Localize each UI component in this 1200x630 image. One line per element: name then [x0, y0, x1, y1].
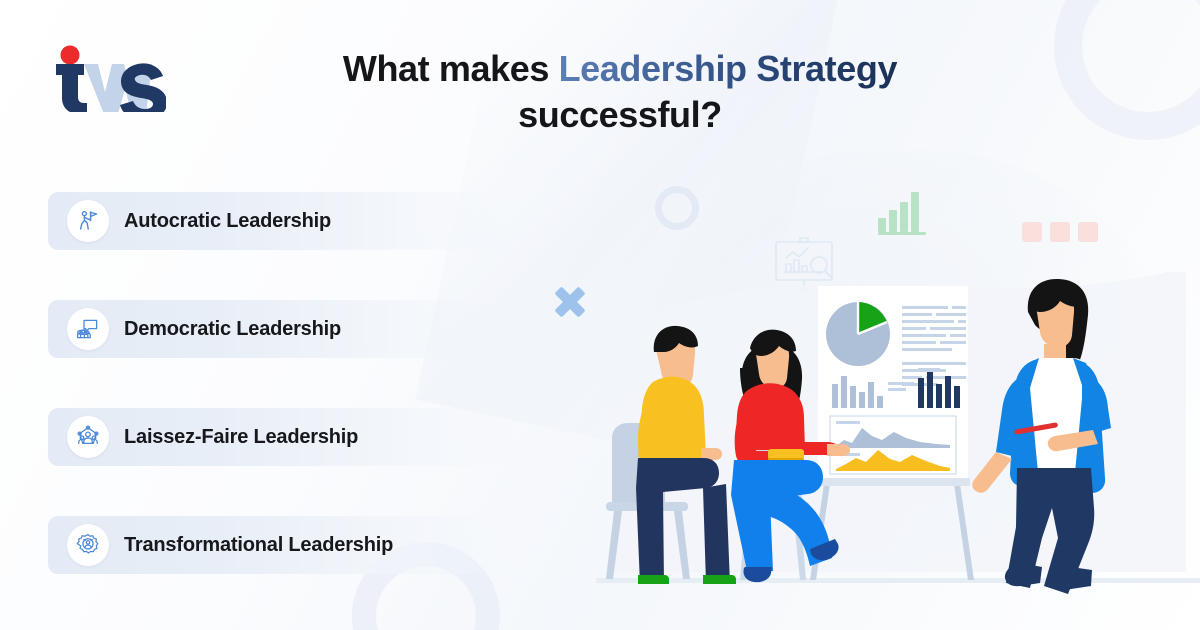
list-item-label: Autocratic Leadership: [124, 210, 331, 233]
green-bar-chart-icon: [878, 190, 926, 232]
page-title: What makes Leadership Strategy successfu…: [250, 46, 990, 138]
title-part-one: What makes: [343, 48, 559, 89]
cross-mark-icon: [553, 285, 587, 319]
title-part-two: successful?: [518, 94, 722, 135]
gear-transformation-icon: [67, 524, 109, 566]
list-item-label: Democratic Leadership: [124, 318, 341, 341]
list-item[interactable]: Laissez-Faire Leadership: [48, 408, 518, 466]
list-item-label: Laissez-Faire Leadership: [124, 426, 358, 449]
flipchart-pie-chart: [826, 302, 890, 366]
pink-squares-icon: [1022, 222, 1098, 242]
team-network-icon: [67, 416, 109, 458]
list-item[interactable]: Autocratic Leadership: [48, 192, 518, 250]
leadership-style-list: Autocratic Leadership Democratic Leaders…: [48, 192, 518, 574]
logo-red-dot: [61, 46, 80, 65]
corner-ring-top-right-icon: [1054, 0, 1200, 140]
tws-logo-icon: [48, 42, 166, 112]
infographic-canvas: What makes Leadership Strategy successfu…: [0, 0, 1200, 630]
business-meeting-illustration: [596, 272, 1200, 612]
list-item[interactable]: Democratic Leadership: [48, 300, 518, 358]
list-item[interactable]: Transformational Leadership: [48, 516, 518, 574]
flipchart-trend-panel: [830, 416, 956, 474]
title-highlight: Leadership Strategy: [559, 48, 898, 89]
presentation-audience-icon: [67, 308, 109, 350]
list-item-label: Transformational Leadership: [124, 534, 393, 557]
ring-outline-icon: [655, 186, 699, 230]
person-with-flag-icon: [67, 200, 109, 242]
brand-logo[interactable]: [48, 42, 166, 112]
